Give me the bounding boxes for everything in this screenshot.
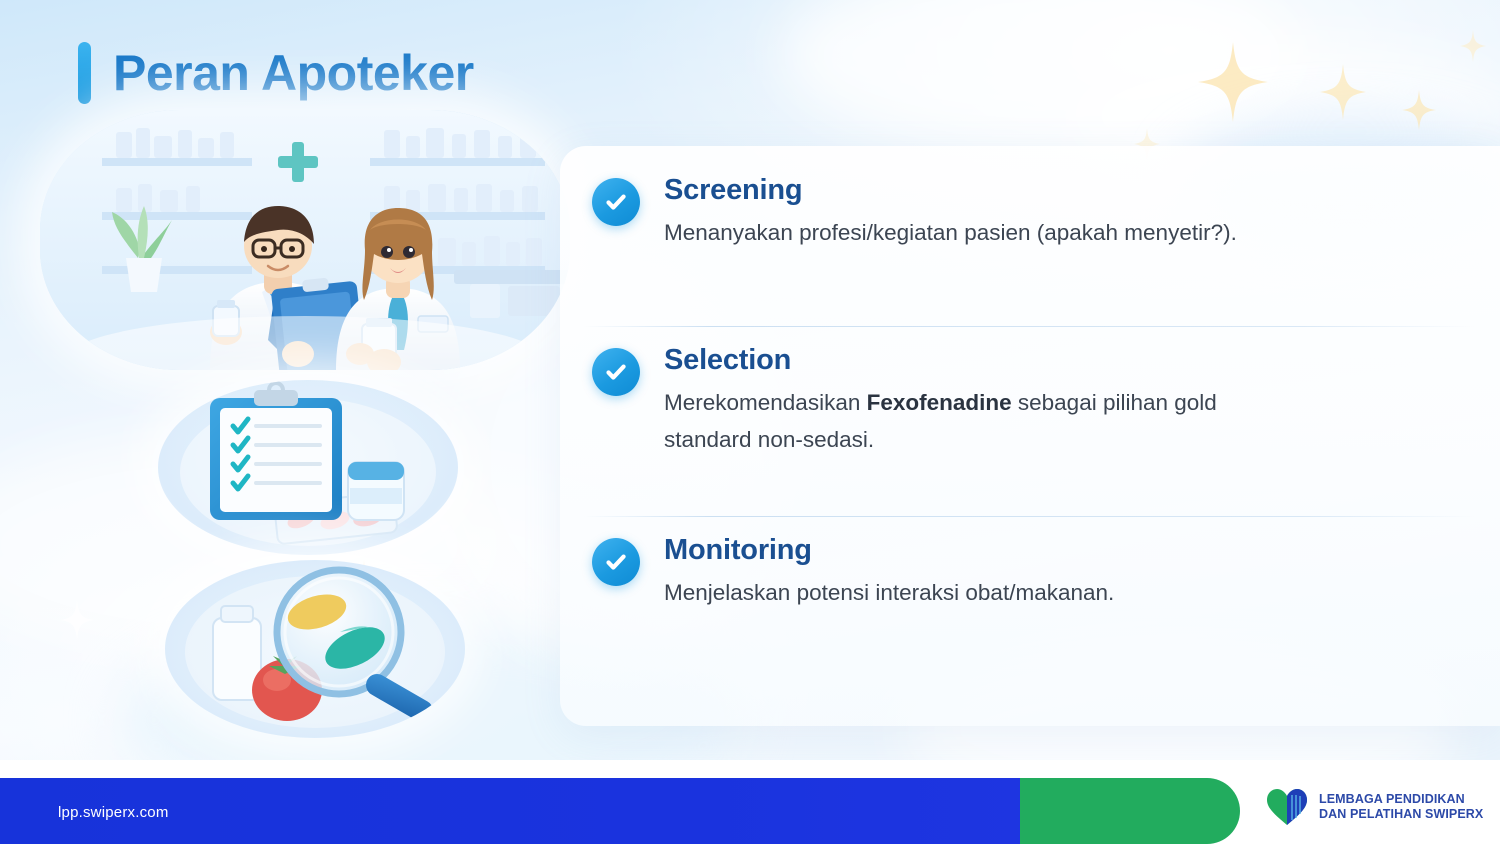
list-item-screening: Screening Menanyakan profesi/kegiatan pa…: [592, 174, 1452, 252]
swiperx-lpp-logo: LEMBAGA PENDIDIKAN DAN PELATIHAN SWIPERX: [1265, 787, 1483, 827]
desc-part-1: Menanyakan profesi/kegiatan pasien (apak…: [664, 220, 1237, 245]
logo-text-line1: LEMBAGA PENDIDIKAN: [1319, 792, 1483, 807]
list-item-title: Selection: [664, 344, 1452, 377]
desc-part-1: Menjelaskan potensi interaksi obat/makan…: [664, 580, 1114, 605]
sparkle-star-icon: [1402, 90, 1436, 130]
slide-canvas: Peran Apoteker: [0, 0, 1500, 844]
list-item-description: Menanyakan profesi/kegiatan pasien (apak…: [664, 215, 1304, 251]
check-circle-icon: [592, 178, 640, 226]
magnifier-pills-illustration: [165, 560, 465, 738]
illustration-column: [30, 108, 575, 738]
sparkle-star-icon: [1320, 64, 1366, 120]
list-item-description: Merekomendasikan Fexofenadine sebagai pi…: [664, 385, 1304, 458]
sparkle-star-icon: [1198, 42, 1268, 122]
clipboard-checklist-illustration: [158, 380, 458, 555]
item-divider: [584, 516, 1474, 517]
list-item-monitoring: Monitoring Menjelaskan potensi interaksi…: [592, 534, 1452, 612]
list-item-description: Menjelaskan potensi interaksi obat/makan…: [664, 575, 1304, 611]
list-item-title: Monitoring: [664, 534, 1452, 567]
check-circle-icon: [592, 348, 640, 396]
cloud-haze: [780, 0, 1300, 150]
list-item-title: Screening: [664, 174, 1452, 207]
heart-logo-icon: [1265, 787, 1311, 827]
list-item-text: Selection Merekomendasikan Fexofenadine …: [664, 344, 1452, 458]
pharmacists-illustration: [40, 110, 570, 370]
desc-part-1: Merekomendasikan: [664, 390, 867, 415]
footer-blue-bar: [0, 778, 1145, 844]
list-item-selection: Selection Merekomendasikan Fexofenadine …: [592, 344, 1452, 458]
footer-green-accent: [1020, 778, 1240, 844]
page-title: Peran Apoteker: [78, 42, 474, 104]
desc-emphasis: Fexofenadine: [867, 390, 1012, 415]
logo-text-line2: DAN PELATIHAN SWIPERX: [1319, 807, 1483, 822]
list-item-text: Screening Menanyakan profesi/kegiatan pa…: [664, 174, 1452, 252]
sparkle-star-icon: [1460, 30, 1486, 62]
footer-website-url[interactable]: lpp.swiperx.com: [58, 804, 169, 821]
footer: lpp.swiperx.com LEMBAGA PENDIDIKAN DAN P…: [0, 760, 1500, 844]
content-card: Screening Menanyakan profesi/kegiatan pa…: [560, 146, 1500, 726]
check-circle-icon: [592, 538, 640, 586]
title-accent-bar: [78, 42, 91, 104]
item-divider: [584, 326, 1474, 327]
page-title-text: Peran Apoteker: [113, 48, 474, 98]
logo-text: LEMBAGA PENDIDIKAN DAN PELATIHAN SWIPERX: [1319, 792, 1483, 823]
list-item-text: Monitoring Menjelaskan potensi interaksi…: [664, 534, 1452, 612]
